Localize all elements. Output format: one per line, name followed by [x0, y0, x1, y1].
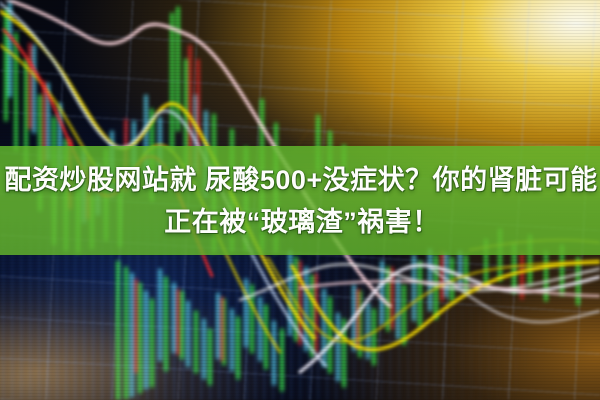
headline-line-2: 正在被“玻璃渣”祸害！: [160, 202, 440, 242]
banner-image: 配资炒股网站就 尿酸500+没症状？你的肾脏可能 正在被“玻璃渣”祸害！: [0, 0, 600, 400]
headline-block: 配资炒股网站就 尿酸500+没症状？你的肾脏可能 正在被“玻璃渣”祸害！: [0, 146, 600, 255]
headline-line-1: 配资炒股网站就 尿酸500+没症状？你的肾脏可能: [2, 160, 597, 200]
